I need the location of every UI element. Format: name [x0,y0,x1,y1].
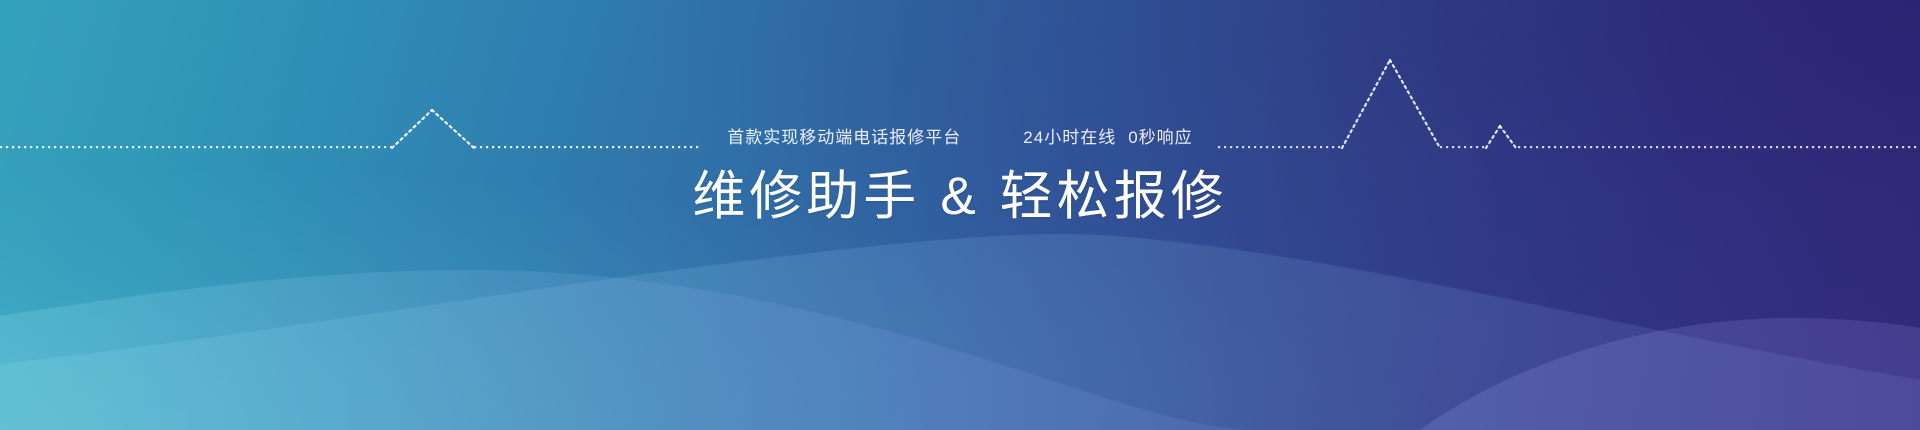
banner-title-right: 轻松报修 [1000,167,1228,226]
peak-right-small [1486,126,1516,148]
banner-subtitle-service-hours: 24小时在线 [1023,128,1116,147]
banner-title-separator: & [920,164,999,230]
banner-subtitle-primary: 首款实现移动端电话报修平台 [727,126,961,150]
peak-right-large [1342,60,1440,148]
hero-banner: 首款实现移动端电话报修平台 24小时在线0秒响应 维修助手&轻松报修 [0,0,1920,430]
banner-title: 维修助手&轻松报修 [0,164,1920,230]
banner-subtitle-secondary: 24小时在线0秒响应 [1023,126,1192,150]
banner-subtitle-response-time: 0秒响应 [1128,128,1192,147]
peak-left [392,110,474,148]
banner-title-left: 维修助手 [692,167,920,226]
